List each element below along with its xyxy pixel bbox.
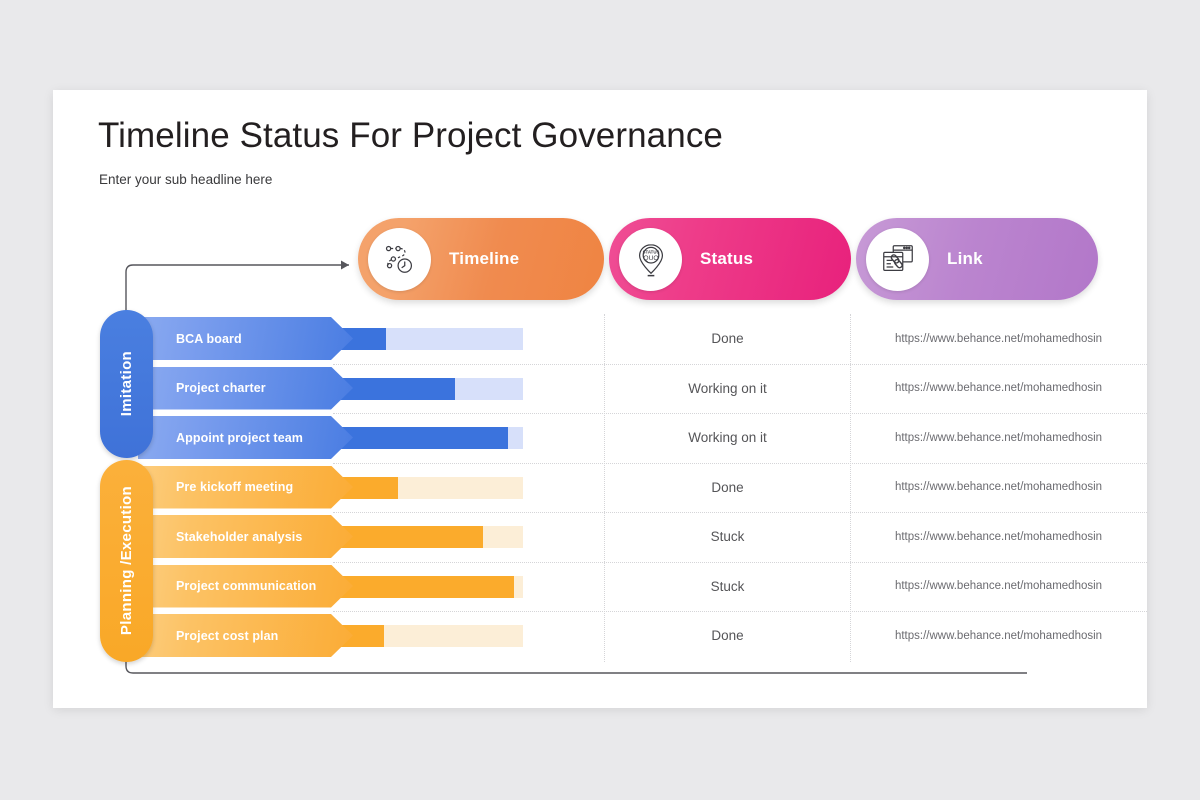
status-cell: Done [605,314,850,364]
link-cell[interactable]: https://www.behance.net/mohamedhosin [850,364,1147,414]
table-row[interactable]: Stakeholder analysisStuckhttps://www.beh… [53,512,1147,562]
task-label: Pre kickoff meeting [176,480,293,494]
progress-track [333,526,523,548]
progress-track [333,378,523,400]
category-imitation-label: Imitation [118,351,135,416]
slide-card: Timeline Status For Project Governance E… [53,90,1147,708]
status-cell: Working on it [605,364,850,414]
task-label: BCA board [176,332,242,346]
status-cell: Working on it [605,413,850,463]
category-planning[interactable]: Planning /Execution [100,460,153,662]
progress-bar[interactable] [333,576,523,598]
task-chevron[interactable]: Pre kickoff meeting [138,466,353,509]
task-label: Project charter [176,381,266,395]
timeline-table: Imitation Planning /Execution BCA boardD… [53,90,1147,708]
task-label: Appoint project team [176,431,303,445]
progress-bar[interactable] [333,328,523,350]
task-chevron[interactable]: Project charter [138,367,353,410]
link-cell[interactable]: https://www.behance.net/mohamedhosin [850,314,1147,364]
table-row[interactable]: Project charterWorking on ithttps://www.… [53,364,1147,414]
progress-track [333,427,523,449]
link-cell[interactable]: https://www.behance.net/mohamedhosin [850,562,1147,612]
slide-canvas: Timeline Status For Project Governance E… [0,0,1200,800]
table-row[interactable]: Project communicationStuckhttps://www.be… [53,562,1147,612]
progress-fill [333,427,508,449]
task-label: Project communication [176,579,316,593]
status-cell: Done [605,463,850,513]
task-chevron[interactable]: Stakeholder analysis [138,515,353,558]
task-chevron[interactable]: Project cost plan [138,614,353,657]
progress-bar[interactable] [333,477,523,499]
progress-fill [333,526,483,548]
status-cell: Stuck [605,512,850,562]
task-label: Stakeholder analysis [176,530,302,544]
progress-bar[interactable] [333,526,523,548]
link-cell[interactable]: https://www.behance.net/mohamedhosin [850,611,1147,661]
link-cell[interactable]: https://www.behance.net/mohamedhosin [850,413,1147,463]
task-chevron[interactable]: Appoint project team [138,416,353,459]
link-cell[interactable]: https://www.behance.net/mohamedhosin [850,512,1147,562]
progress-bar[interactable] [333,427,523,449]
progress-track [333,576,523,598]
table-row[interactable]: BCA boardDonehttps://www.behance.net/moh… [53,314,1147,364]
category-planning-label: Planning /Execution [118,486,135,635]
status-cell: Done [605,611,850,661]
link-cell[interactable]: https://www.behance.net/mohamedhosin [850,463,1147,513]
progress-fill [333,576,514,598]
task-chevron[interactable]: Project communication [138,565,353,608]
progress-track [333,328,523,350]
progress-track [333,477,523,499]
task-chevron[interactable]: BCA board [138,317,353,360]
task-label: Project cost plan [176,629,278,643]
table-row[interactable]: Appoint project teamWorking on ithttps:/… [53,413,1147,463]
category-imitation[interactable]: Imitation [100,310,153,458]
progress-bar[interactable] [333,378,523,400]
table-row[interactable]: Project cost planDonehttps://www.behance… [53,611,1147,661]
progress-bar[interactable] [333,625,523,647]
table-row[interactable]: Pre kickoff meetingDonehttps://www.behan… [53,463,1147,513]
progress-track [333,625,523,647]
status-cell: Stuck [605,562,850,612]
